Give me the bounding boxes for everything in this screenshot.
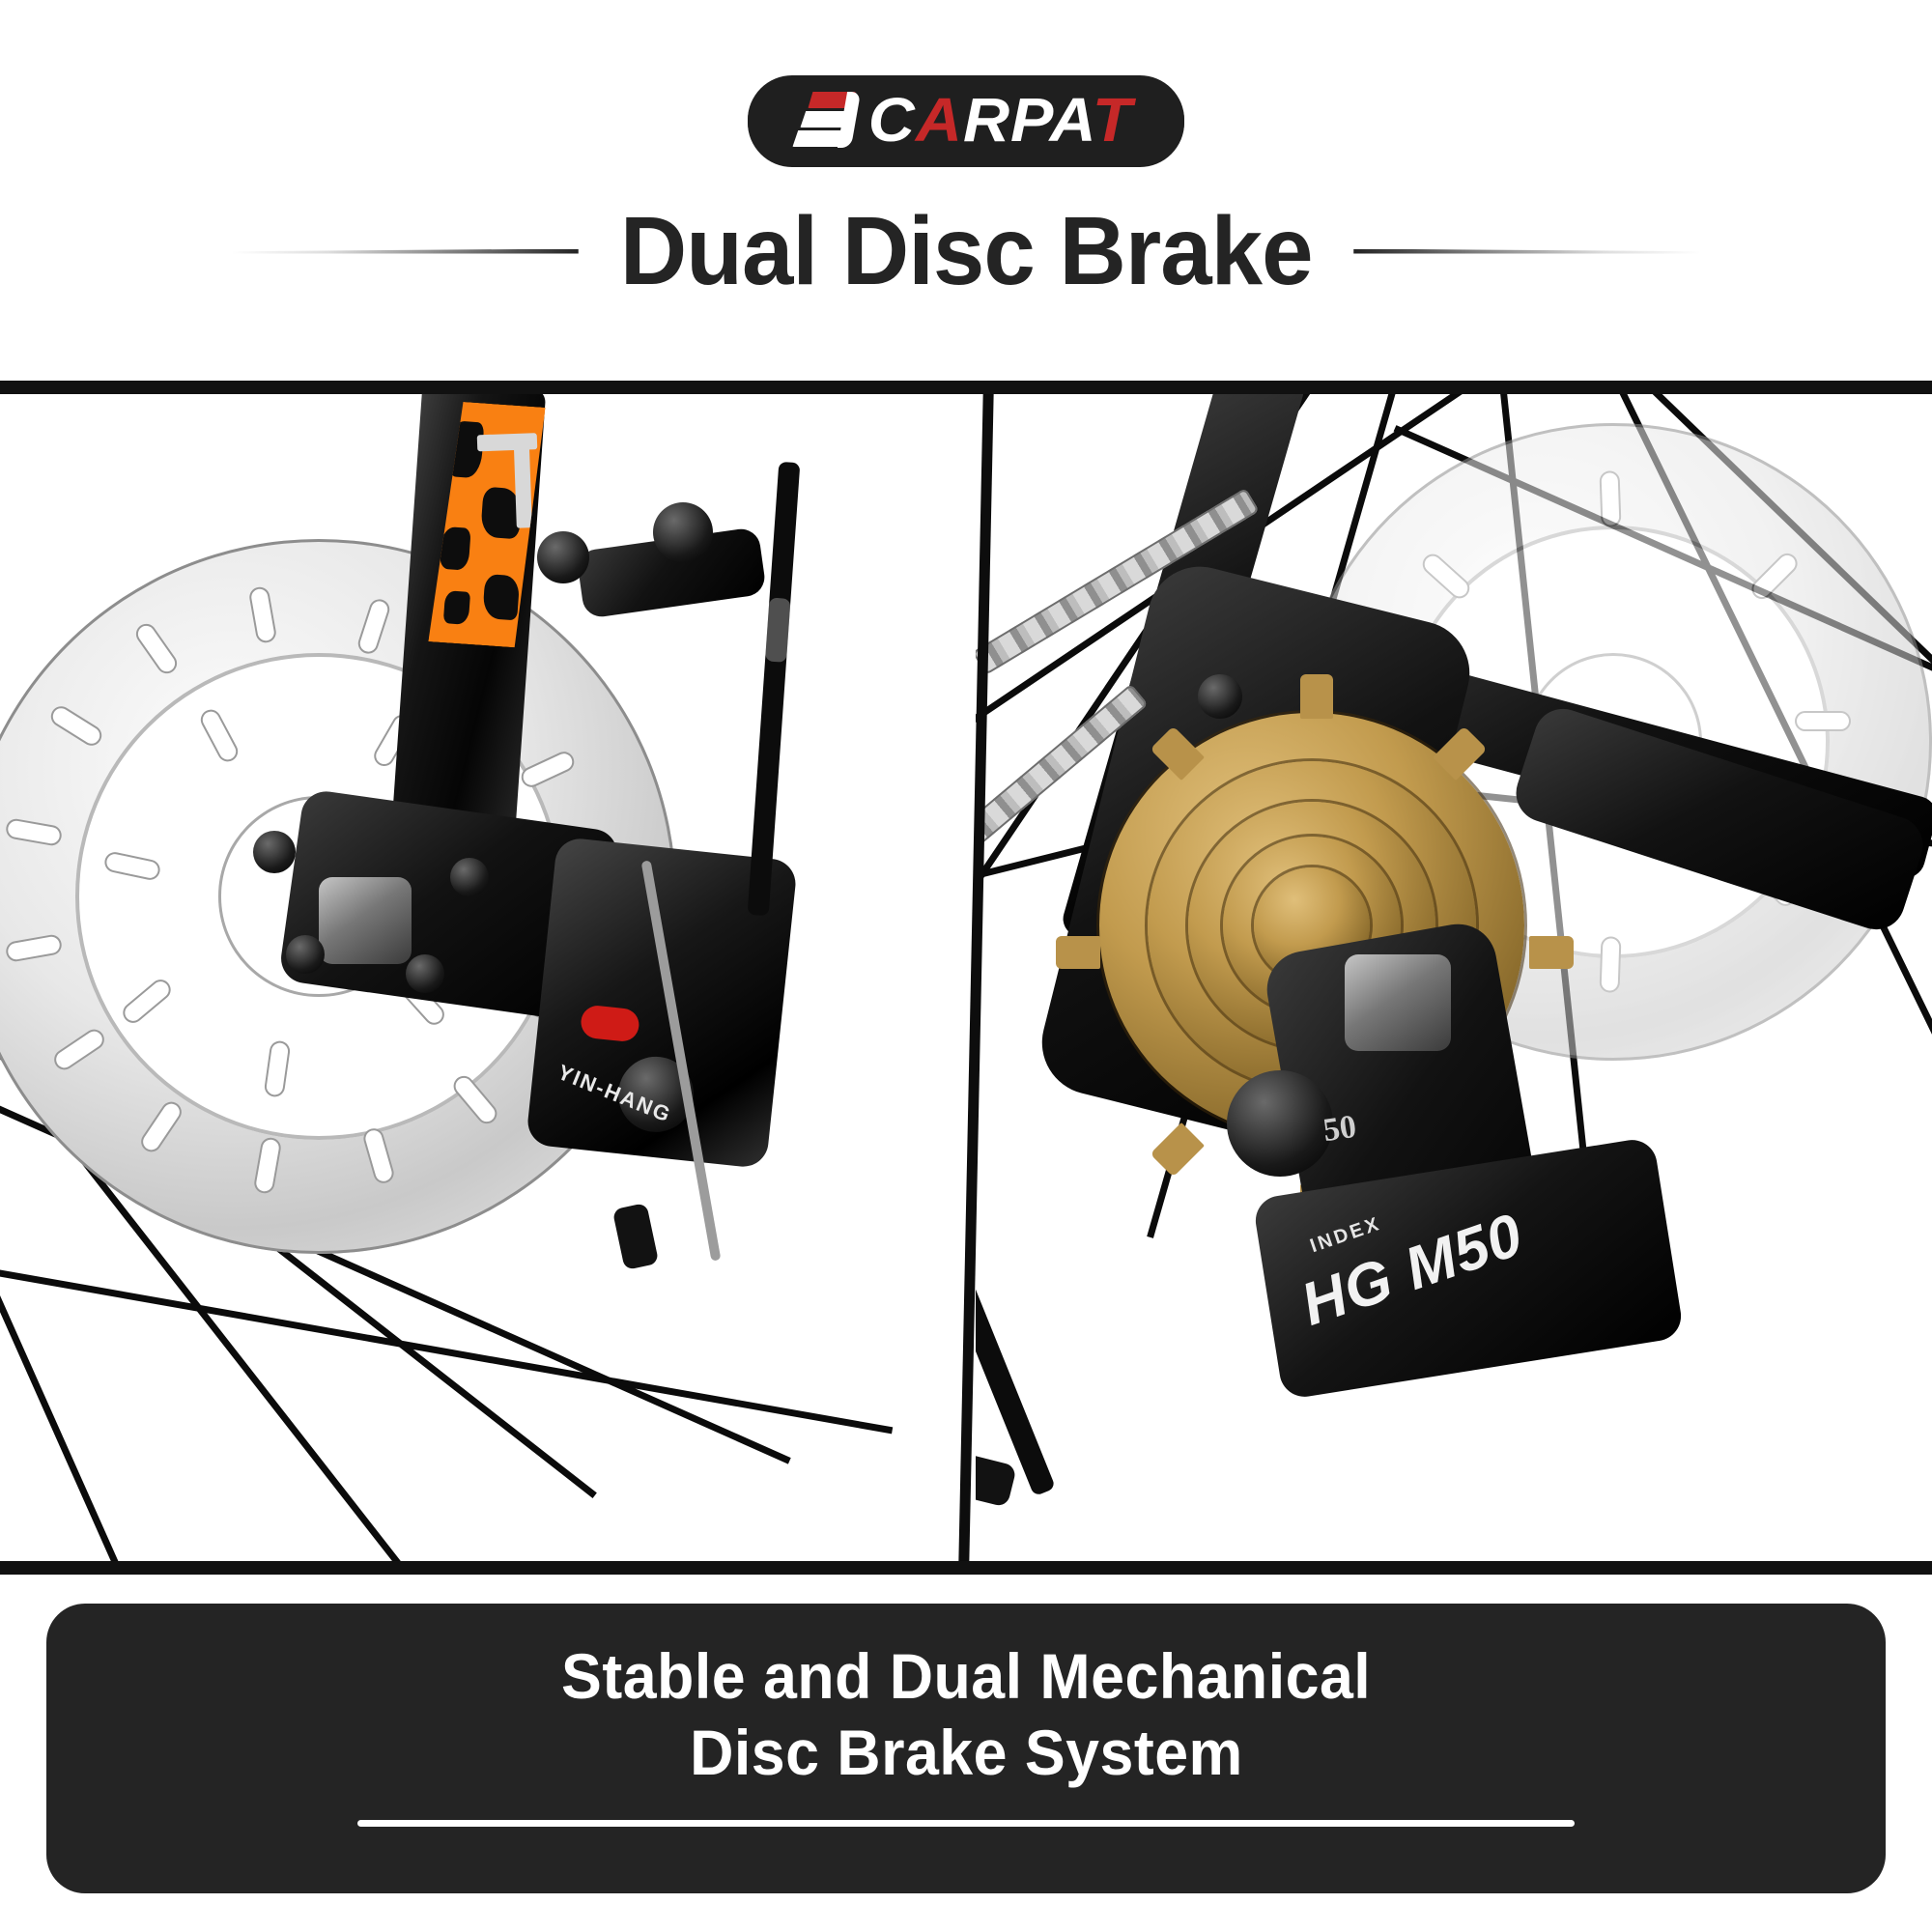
caption-line-2: Disc Brake System	[690, 1715, 1243, 1791]
rotor-bolt	[450, 858, 489, 896]
cog-stamp-label: 50	[1321, 1109, 1359, 1150]
title-row: Dual Disc Brake	[0, 198, 1932, 304]
tapered-rule-right-icon	[1353, 249, 1701, 254]
cable-end-cap	[612, 1203, 660, 1270]
brake-cable-housing	[748, 462, 801, 916]
derailleur-model-label: HG M50	[1293, 1200, 1531, 1339]
axle-nut	[319, 877, 412, 964]
caliper-mount-bolt	[537, 531, 589, 583]
rotor-bolt	[253, 831, 296, 873]
page-title: Dual Disc Brake	[620, 203, 1313, 299]
tapered-rule-left-icon	[231, 249, 579, 254]
carpat-chevron-mark-icon	[792, 90, 856, 150]
rear-cassette-derailleur-photo: INDEX HG M50 50	[976, 394, 1932, 1561]
product-feature-card: CARPAT Dual Disc Brake	[0, 0, 1932, 1932]
logo-pill: CARPAT	[748, 75, 1183, 166]
caption-underline	[357, 1820, 1575, 1827]
derailleur-pivot-bolt	[1227, 1070, 1333, 1177]
caption-line-1: Stable and Dual Mechanical	[561, 1638, 1371, 1715]
rear-axle-nut	[1345, 954, 1451, 1051]
caption-card: Stable and Dual Mechanical Disc Brake Sy…	[46, 1604, 1886, 1893]
logo-wordmark: CARPAT	[868, 89, 1133, 151]
rotor-bolt	[286, 935, 325, 974]
product-photo: YIN-HANG	[0, 381, 1932, 1575]
rotor-bolt	[406, 954, 444, 993]
logo-wordmark-text: CARPAT	[868, 85, 1133, 155]
brand-logo: CARPAT	[0, 75, 1932, 166]
front-disc-brake-photo: YIN-HANG	[0, 394, 976, 1561]
caliper-adjuster	[653, 502, 713, 562]
